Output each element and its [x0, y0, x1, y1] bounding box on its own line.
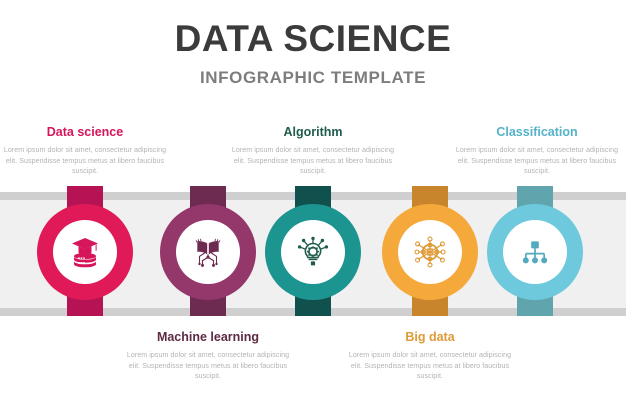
step-body-classification: Lorem ipsum dolor sit amet, consectetur …: [452, 145, 622, 177]
step-label-algorithm: Algorithm: [228, 126, 398, 140]
step-circle-classification[interactable]: [487, 204, 583, 300]
step-label-data-science: Data science: [0, 126, 170, 140]
step-text-data-science: Data science Lorem ipsum dolor sit amet,…: [0, 126, 170, 177]
step-body-data-science: Lorem ipsum dolor sit amet, consectetur …: [0, 145, 170, 177]
step-icon-wrap-big-data: [398, 220, 462, 284]
step-text-big-data: Big data Lorem ipsum dolor sit amet, con…: [345, 331, 515, 382]
hierarchy-tree-icon: [515, 232, 555, 272]
lightbulb-gear-icon: [293, 232, 333, 272]
page-subtitle: INFOGRAPHIC TEMPLATE: [0, 68, 626, 88]
step-circle-algorithm[interactable]: [265, 204, 361, 300]
step-icon-wrap-algorithm: [281, 220, 345, 284]
step-body-algorithm: Lorem ipsum dolor sit amet, consectetur …: [228, 145, 398, 177]
step-label-big-data: Big data: [345, 331, 515, 345]
network-hub-icon: [410, 232, 450, 272]
step-circle-data-science[interactable]: [37, 204, 133, 300]
step-circle-machine-learning[interactable]: [160, 204, 256, 300]
step-text-classification: Classification Lorem ipsum dolor sit ame…: [452, 126, 622, 177]
step-text-machine-learning: Machine learning Lorem ipsum dolor sit a…: [123, 331, 293, 382]
step-body-big-data: Lorem ipsum dolor sit amet, consectetur …: [345, 350, 515, 382]
page-title: DATA SCIENCE: [0, 20, 626, 59]
step-body-machine-learning: Lorem ipsum dolor sit amet, consectetur …: [123, 350, 293, 382]
step-circle-big-data[interactable]: [382, 204, 478, 300]
infographic-canvas: DATA SCIENCE INFOGRAPHIC TEMPLATE: [0, 0, 626, 418]
open-book-brain-icon: [188, 232, 228, 272]
step-icon-wrap-classification: [503, 220, 567, 284]
step-icon-wrap-data-science: [53, 220, 117, 284]
header: DATA SCIENCE INFOGRAPHIC TEMPLATE: [0, 20, 626, 88]
step-icon-wrap-machine-learning: [176, 220, 240, 284]
step-text-algorithm: Algorithm Lorem ipsum dolor sit amet, co…: [228, 126, 398, 177]
step-label-machine-learning: Machine learning: [123, 331, 293, 345]
step-label-classification: Classification: [452, 126, 622, 140]
database-graduation-cap-icon: [65, 232, 105, 272]
